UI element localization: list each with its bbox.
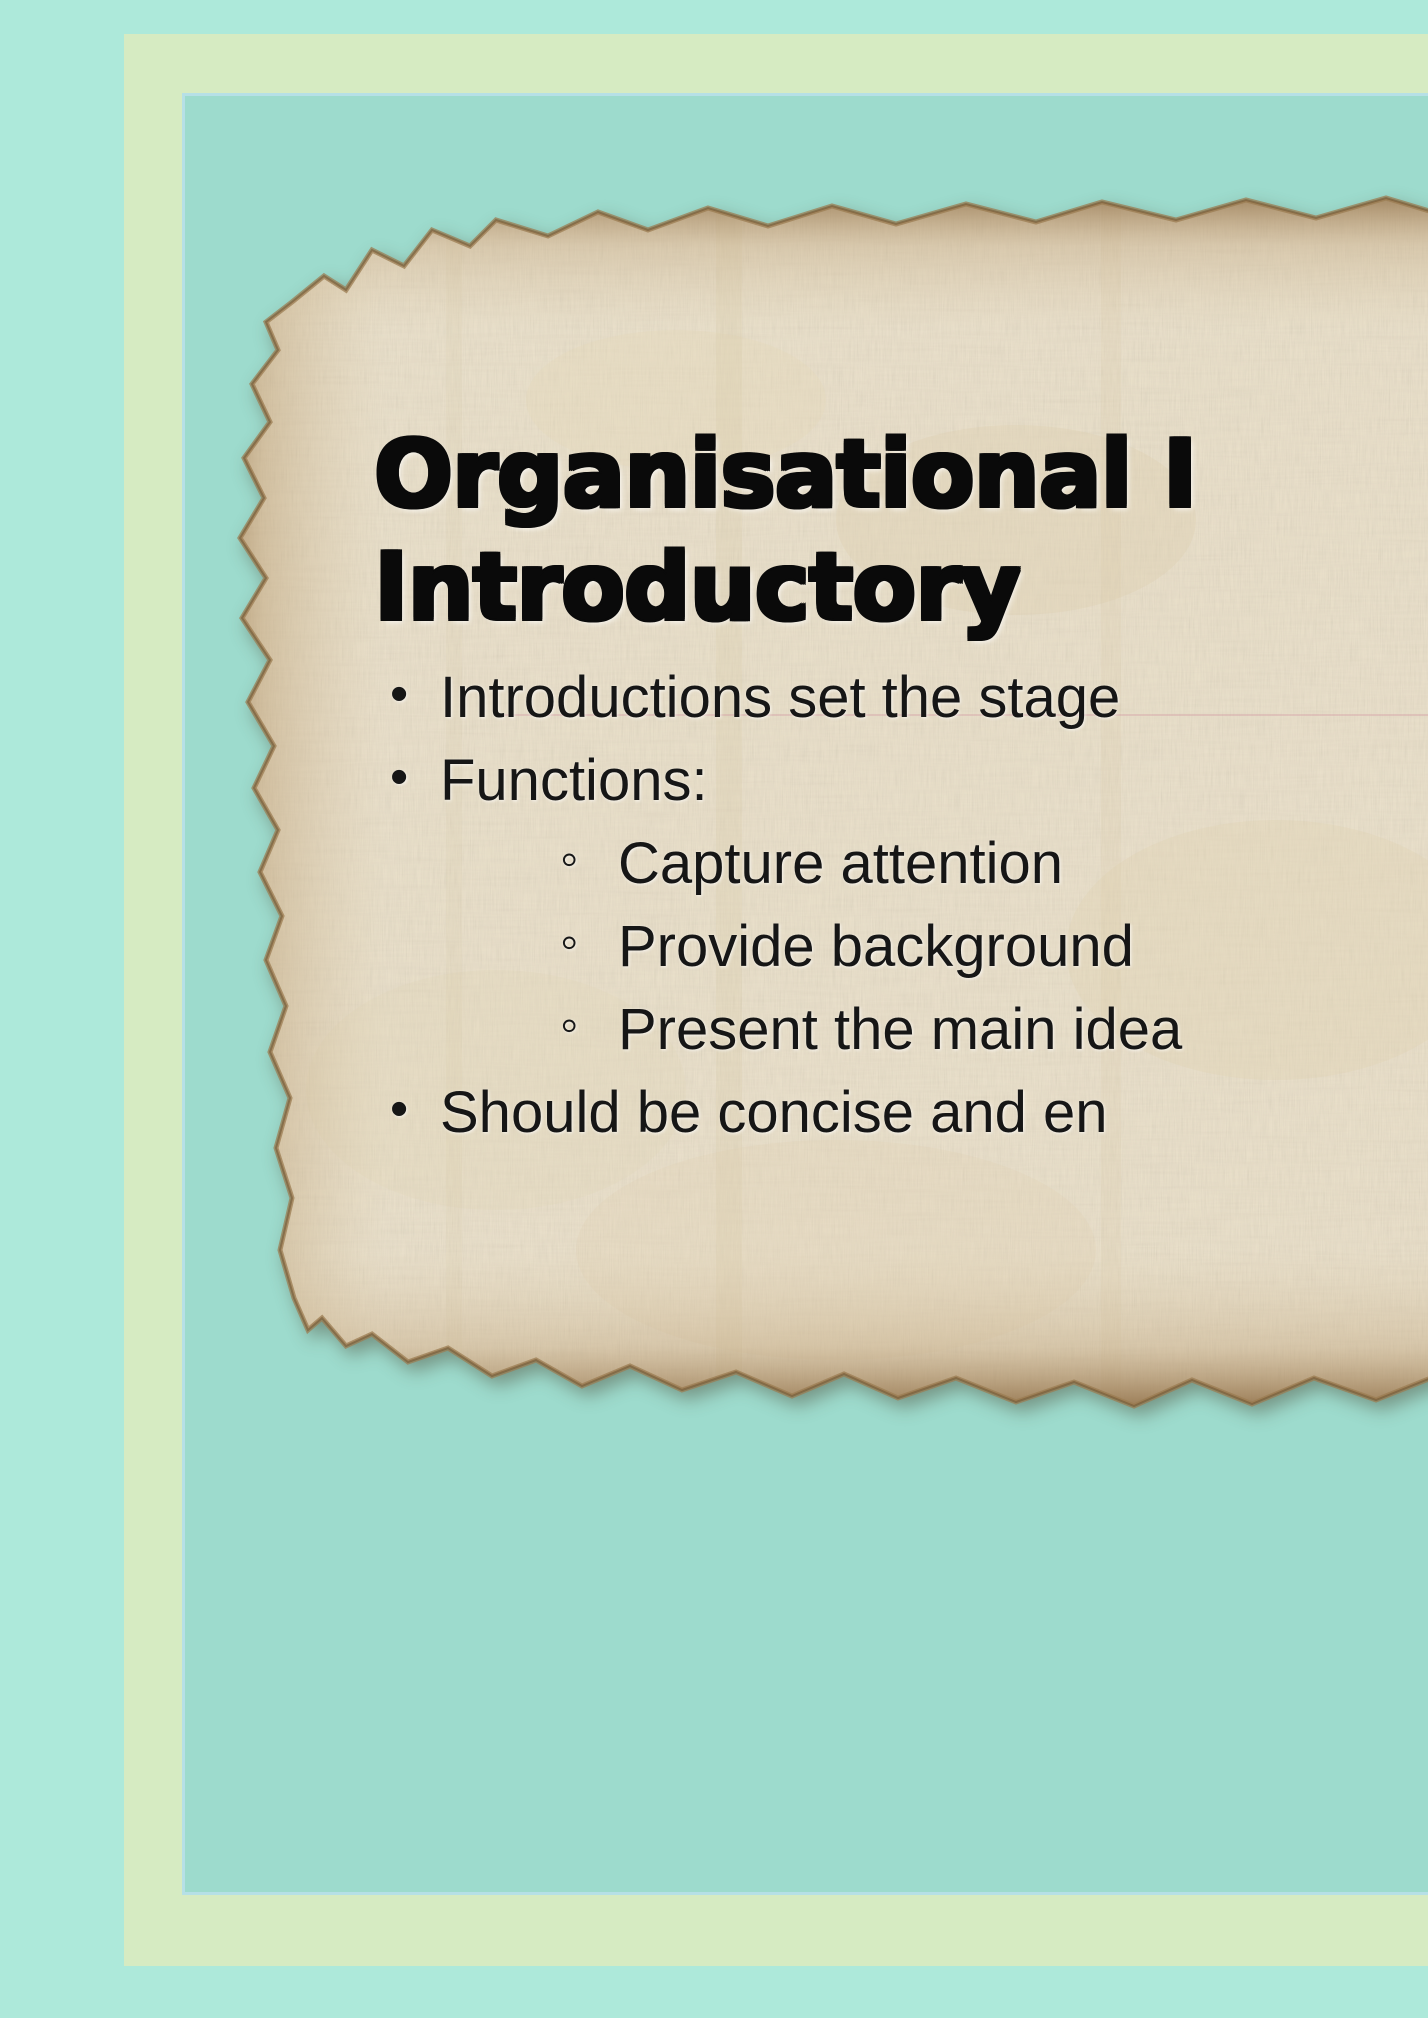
list-item: Capture attention bbox=[374, 823, 1428, 906]
list-item: Introductions set the stage bbox=[374, 657, 1428, 740]
list-item: Should be concise and en bbox=[374, 1072, 1428, 1155]
list-item: Present the main idea bbox=[374, 989, 1428, 1072]
slide-text-block: Organisational I Introductory Introducti… bbox=[374, 418, 1428, 1155]
slide-canvas: Organisational I Introductory Introducti… bbox=[0, 0, 1428, 2018]
list-item: Provide background bbox=[374, 906, 1428, 989]
page-title: Organisational I Introductory bbox=[374, 418, 1428, 645]
torn-paper-graphic: Organisational I Introductory Introducti… bbox=[196, 190, 1428, 1410]
title-line-2: Introductory bbox=[374, 531, 1428, 644]
list-item: Functions: bbox=[374, 740, 1428, 823]
bullet-list: Introductions set the stage Functions: C… bbox=[374, 657, 1428, 1155]
title-line-1: Organisational I bbox=[374, 418, 1428, 531]
